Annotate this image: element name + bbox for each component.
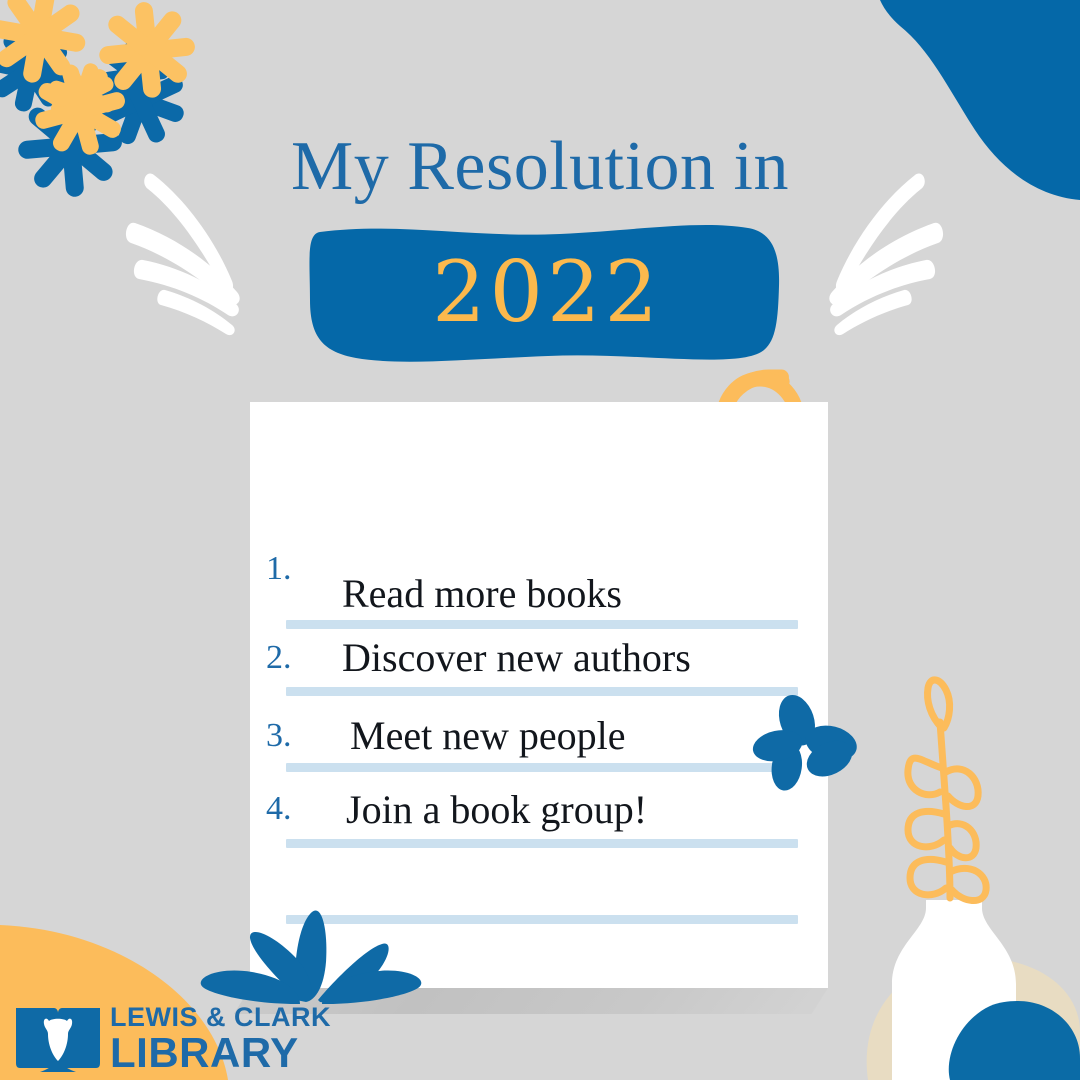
open-book-bison-icon (14, 1000, 102, 1074)
list-item-rule (286, 687, 798, 696)
list-item-rule (286, 915, 798, 924)
wheat-branch-icon (908, 680, 986, 901)
year-banner: 2022 (296, 222, 786, 362)
sand-blob-bottom-right (867, 958, 1080, 1080)
poster-canvas: My Resolution in 2022 1. Read more books… (0, 0, 1080, 1080)
list-item-text: Read more books (342, 570, 622, 617)
list-item-text: Meet new people (350, 712, 625, 759)
list-item-empty[interactable] (250, 402, 828, 476)
list-item-rule (286, 763, 798, 772)
blue-rounded-shape-bottom-right (949, 1001, 1080, 1080)
list-item-text: Join a book group! (346, 786, 647, 833)
logo-text: LEWIS & CLARK LIBRARY (110, 1002, 331, 1074)
white-vase-icon (892, 900, 1016, 1080)
list-item-text: Discover new authors (342, 634, 691, 681)
list-item-rule (286, 620, 798, 629)
list-item-number: 1. (266, 550, 292, 588)
list-item-number: 4. (266, 790, 292, 828)
list-item-number: 2. (266, 639, 292, 677)
year-text: 2022 (296, 222, 786, 362)
page-title: My Resolution in (0, 132, 1080, 202)
logo[interactable]: LEWIS & CLARK LIBRARY (14, 1000, 334, 1074)
logo-line-1: LEWIS & CLARK (110, 1002, 331, 1032)
resolution-list: 1. Read more books 2. Discover new autho… (250, 402, 828, 988)
list-item-rule (286, 839, 798, 848)
list-item-number: 3. (266, 717, 292, 755)
logo-line-2: LIBRARY (110, 1032, 331, 1074)
